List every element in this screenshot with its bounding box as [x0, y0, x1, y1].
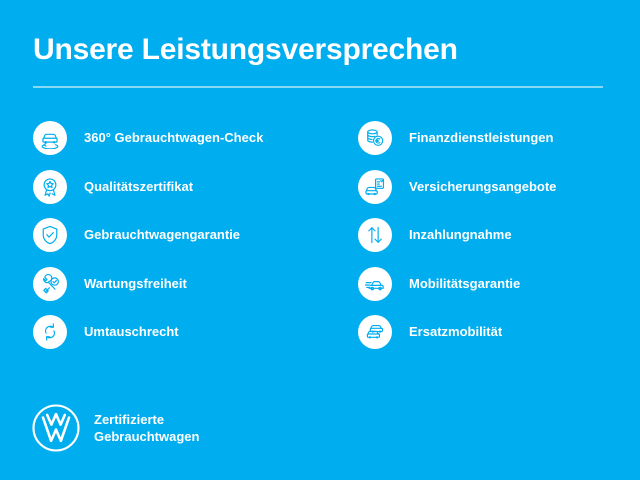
award-rosette-icon	[33, 170, 67, 204]
benefit-label: Umtauschrecht	[84, 324, 179, 340]
brand-lockup-text: Zertifizierte Gebrauchtwagen	[94, 411, 199, 445]
benefit-label: Gebrauchtwagengarantie	[84, 227, 240, 243]
benefit-item-insurance-offers[interactable]: Versicherungsangebote	[358, 170, 640, 204]
brand-lockup-line1: Zertifizierte	[94, 411, 199, 428]
benefit-item-quality-certificate[interactable]: Qualitätszertifikat	[33, 170, 333, 204]
coins-euro-icon	[358, 121, 392, 155]
benefit-item-financial-services[interactable]: Finanzdienstleistungen	[358, 121, 640, 155]
benefit-item-maintenance-free[interactable]: Wartungsfreiheit	[33, 267, 333, 301]
exchange-arrows-icon	[33, 315, 67, 349]
page-title: Unsere Leistungsversprechen	[33, 32, 458, 68]
car-checklist-icon	[358, 170, 392, 204]
benefits-grid: 360° Gebrauchtwagen-Check Qualitätszerti…	[0, 121, 640, 366]
title-divider	[33, 86, 603, 88]
benefit-label: Inzahlungnahme	[409, 227, 512, 243]
benefit-label: Finanzdienstleistungen	[409, 130, 553, 146]
two-cars-icon	[358, 315, 392, 349]
benefit-label: Qualitätszertifikat	[84, 179, 193, 195]
benefit-item-warranty[interactable]: Gebrauchtwagengarantie	[33, 218, 333, 252]
shield-check-icon	[33, 218, 67, 252]
benefit-label: Versicherungsangebote	[409, 179, 556, 195]
benefit-label: Mobilitätsgarantie	[409, 276, 520, 292]
benefits-column-left: 360° Gebrauchtwagen-Check Qualitätszerti…	[33, 121, 333, 364]
volkswagen-logo-icon	[30, 402, 82, 454]
wrench-check-icon	[33, 267, 67, 301]
brand-lockup-line2: Gebrauchtwagen	[94, 428, 199, 445]
car-360-check-icon	[33, 121, 67, 155]
up-down-arrows-icon	[358, 218, 392, 252]
benefits-column-right: Finanzdienstleistungen Versicherungsange…	[358, 121, 640, 364]
benefit-item-360-check[interactable]: 360° Gebrauchtwagen-Check	[33, 121, 333, 155]
promise-panel: Unsere Leistungsversprechen 360° Gebrauc…	[0, 0, 640, 480]
benefit-label: Wartungsfreiheit	[84, 276, 187, 292]
car-motion-icon	[358, 267, 392, 301]
benefit-item-replacement-mobility[interactable]: Ersatzmobilität	[358, 315, 640, 349]
brand-lockup: Zertifizierte Gebrauchtwagen	[30, 402, 199, 454]
benefit-label: 360° Gebrauchtwagen-Check	[84, 130, 263, 146]
benefit-label: Ersatzmobilität	[409, 324, 502, 340]
benefit-item-mobility-guarantee[interactable]: Mobilitätsgarantie	[358, 267, 640, 301]
benefit-item-trade-in[interactable]: Inzahlungnahme	[358, 218, 640, 252]
benefit-item-exchange-right[interactable]: Umtauschrecht	[33, 315, 333, 349]
